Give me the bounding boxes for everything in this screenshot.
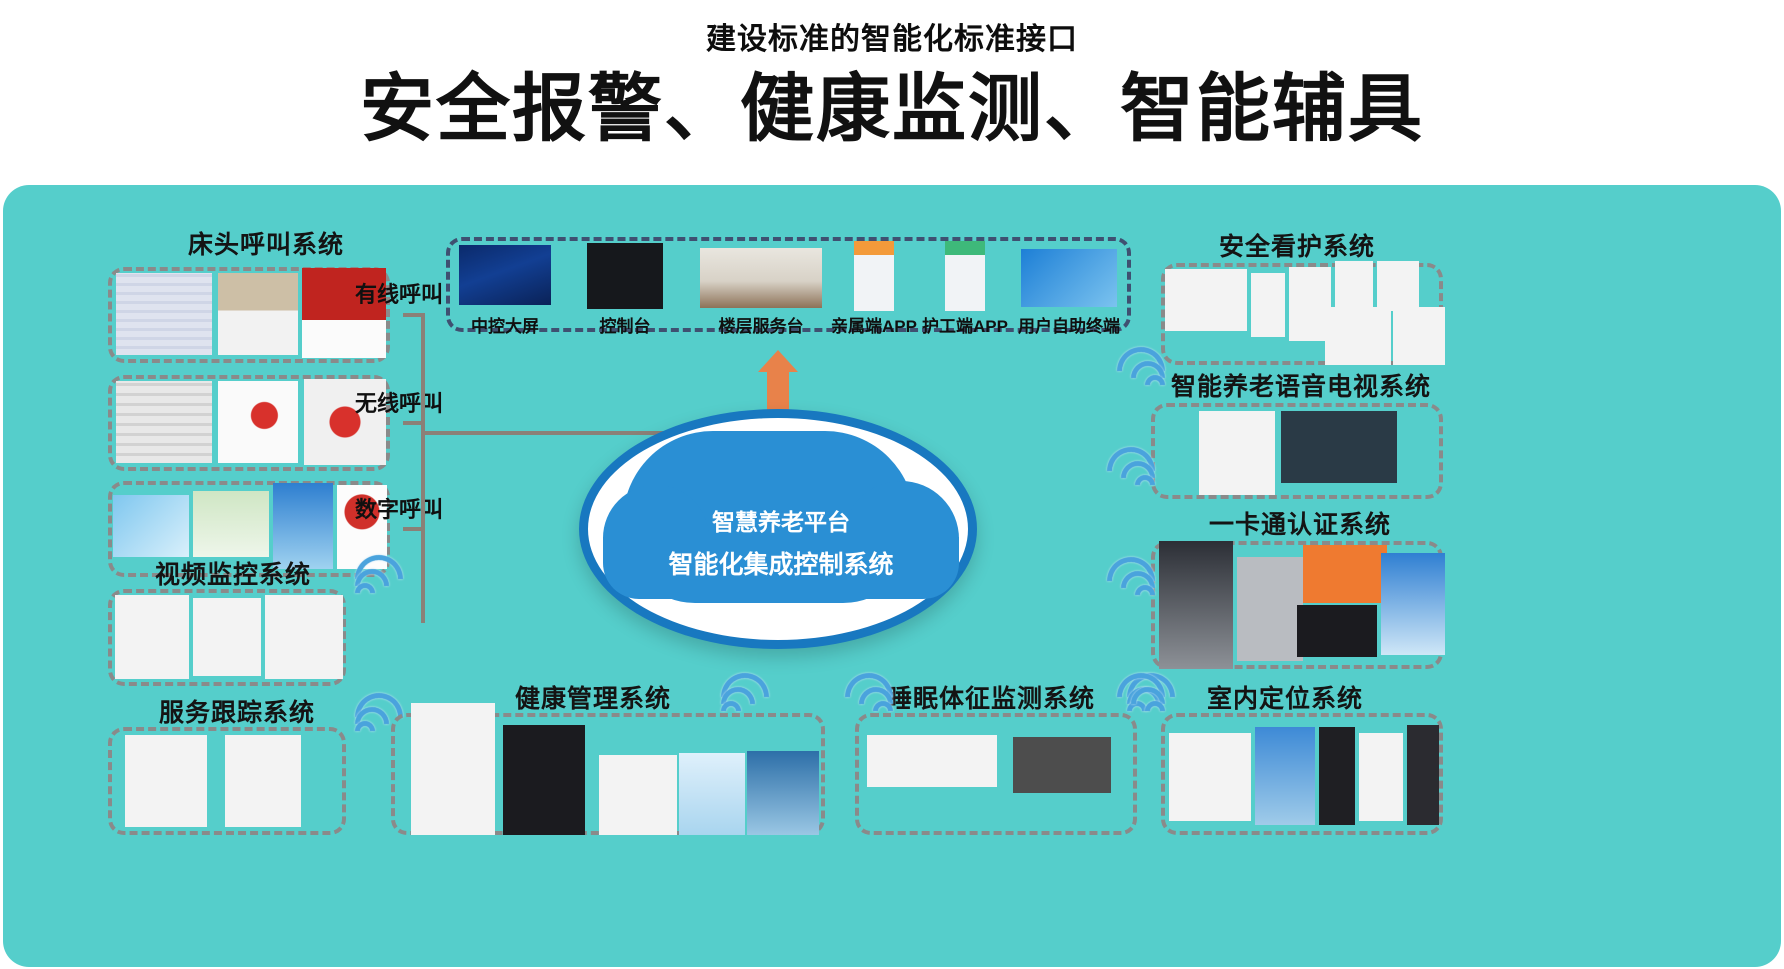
device-wired-button: [1393, 307, 1445, 365]
device-gas-detector: [1325, 307, 1391, 365]
platform-line-1: 智慧养老平台: [603, 503, 959, 537]
section-title-one-card-auth: 一卡通认证系统: [1209, 505, 1391, 541]
connector-digital-stub: [403, 527, 423, 531]
caption-dashboard-bigscreen: 中控大屏: [459, 312, 551, 337]
device-qr-card: [1303, 545, 1387, 603]
device-wall-button-pair: [218, 381, 298, 463]
connector-bus-to-cloud: [421, 431, 673, 435]
device-keypad-patrol: [225, 735, 301, 827]
diagram-canvas: 床头呼叫系统 有线呼叫 无线呼叫 数字呼叫: [3, 185, 1781, 967]
page-header: 建设标准的智能化标准接口 安全报警、健康监测、智能辅具: [0, 0, 1784, 190]
device-wrist-bp: [599, 755, 677, 835]
caption-nurse-app: 护工端APP: [917, 312, 1013, 337]
device-badge-pendant: [1255, 727, 1315, 825]
section-title-sleep-monitoring: 睡眠体征监测系统: [887, 679, 1095, 715]
section-title-health-management: 健康管理系统: [515, 679, 671, 715]
device-wall-speaker: [218, 273, 298, 355]
section-title-indoor-positioning: 室内定位系统: [1207, 679, 1363, 715]
bedside-group-label-digital: 数字呼叫: [355, 497, 443, 522]
device-tv-box: [1281, 411, 1397, 483]
device-card-reader: [1297, 605, 1377, 657]
device-nfc-tag-reader: [125, 735, 207, 827]
section-title-safety-guard: 安全看护系统: [1219, 227, 1375, 263]
device-nurse-app-phone: [945, 241, 985, 311]
caption-service-desk: 楼层服务台: [700, 312, 822, 337]
device-bed-terminal: [193, 491, 269, 557]
connector-vertical-bus: [421, 313, 425, 623]
device-desktop-monitor: [587, 243, 663, 309]
page-title: 安全报警、健康监测、智能辅具: [0, 70, 1784, 148]
device-bedside-monitor: [747, 751, 819, 835]
caption-self-service-kiosk: 用户自助终端: [1013, 312, 1125, 337]
device-family-app-phone: [854, 241, 894, 311]
device-ceiling-beacon: [1169, 733, 1251, 821]
device-fall-radar: [1165, 269, 1247, 331]
device-sleep-belt-sensor: [867, 735, 997, 787]
device-all-in-one-monitor: [503, 725, 585, 835]
device-sleep-gateway: [1013, 737, 1111, 793]
device-self-service-kiosk: [1021, 249, 1117, 307]
device-pad-terminal: [1381, 553, 1445, 655]
device-dashboard-bigscreen: [459, 245, 551, 305]
label-text-digital: 数字呼叫: [355, 497, 443, 522]
device-smoke-detector: [1377, 261, 1419, 311]
device-vital-monitor: [679, 753, 745, 835]
device-door-sensor: [1251, 273, 1285, 337]
device-tablet-stand: [1199, 411, 1275, 495]
device-service-desk-photo: [700, 248, 822, 308]
device-pos-reader: [1237, 557, 1303, 661]
page-subtitle: 建设标准的智能化标准接口: [0, 14, 1784, 58]
connector-wired-stub: [403, 313, 423, 317]
bedside-group-label-wired: 有线呼叫: [355, 282, 443, 307]
wifi-signal-icon: [1111, 565, 1157, 607]
caption-desktop-monitor: 控制台: [585, 312, 665, 337]
platform-line-2: 智能化集成控制系统: [593, 545, 969, 581]
device-ptz-camera: [115, 595, 189, 679]
section-title-service-tracking: 服务跟踪系统: [159, 693, 315, 729]
wifi-signal-icon: [353, 563, 399, 605]
wifi-signal-icon: [849, 681, 895, 723]
uplink-arrow-head: [758, 350, 798, 372]
wifi-signal-icon: [1111, 455, 1157, 497]
label-text-wireless: 无线呼叫: [355, 391, 443, 416]
device-host-panel-grey: [116, 381, 212, 463]
bedside-group-label-wireless: 无线呼叫: [355, 391, 443, 416]
section-title-voice-tv: 智能养老语音电视系统: [1171, 367, 1431, 403]
device-card-tag: [1359, 733, 1403, 821]
device-wrist-band-black: [1319, 727, 1355, 825]
wifi-signal-icon: [719, 681, 765, 723]
label-text-wired: 有线呼叫: [355, 282, 443, 307]
device-ip-phone-tablet: [113, 495, 189, 557]
section-title-video-surveillance: 视频监控系统: [155, 555, 311, 591]
connector-wireless-stub: [403, 421, 423, 425]
device-face-terminal: [1159, 541, 1233, 669]
section-title-bedside-call: 床头呼叫系统: [188, 225, 344, 261]
device-fitness-band: [1407, 725, 1439, 825]
device-health-kiosk: [411, 703, 495, 835]
device-host-panel-color: [116, 273, 212, 355]
wifi-signal-icon: [1121, 355, 1167, 397]
device-dome-camera: [265, 595, 343, 679]
device-cube-camera: [193, 598, 261, 676]
wifi-signal-icon: [1121, 681, 1167, 723]
caption-family-app: 亲属端APP: [826, 312, 922, 337]
